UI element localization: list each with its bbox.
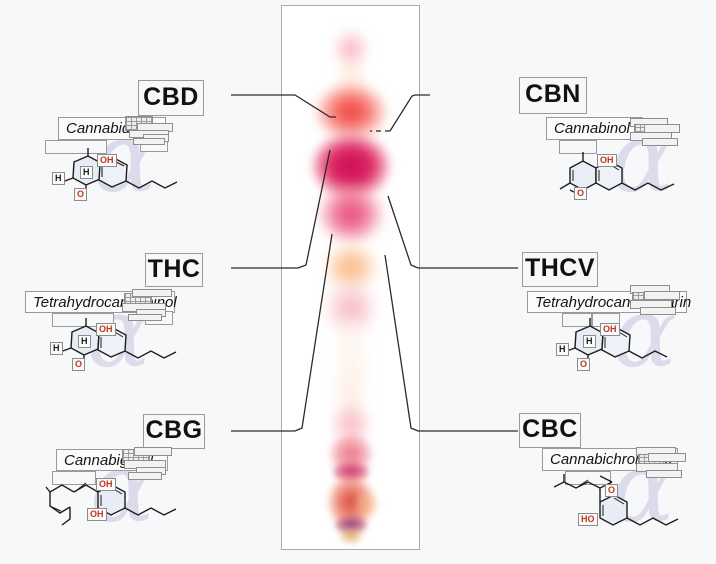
atom-label-cbg-oh2: OH bbox=[87, 508, 107, 521]
atom-label-cbd-h1: H bbox=[52, 172, 65, 185]
structure-cbg: OH OH bbox=[40, 475, 185, 537]
connector-cbc bbox=[385, 255, 518, 431]
atom-label-cbc-o: O bbox=[605, 484, 618, 497]
atom-label-thc-h1: H bbox=[50, 342, 63, 355]
atom-label-thcv-oh: OH bbox=[600, 323, 620, 336]
atom-label-thcv-o: O bbox=[577, 358, 590, 371]
label-cbg-code: CBG bbox=[143, 414, 205, 449]
structure-thc: H H OH O bbox=[44, 318, 184, 380]
label-thcv-name: Tetrahydrocannabivarin bbox=[527, 291, 687, 313]
atom-label-cbn-oh: OH bbox=[597, 154, 617, 167]
connector-thcv bbox=[388, 196, 518, 268]
atom-label-cbg-oh1: OH bbox=[96, 478, 116, 491]
label-cbd-code: CBD bbox=[138, 80, 204, 116]
structure-cbd: H H OH O bbox=[44, 148, 184, 212]
label-thc-name: Tetrahydrocannabinol bbox=[25, 291, 175, 313]
atom-label-cbd-oh: OH bbox=[97, 154, 117, 167]
label-cbn-code: CBN bbox=[519, 77, 587, 114]
atom-label-cbc-ho: HO bbox=[578, 513, 598, 526]
label-cbc-code: CBC bbox=[519, 413, 581, 448]
label-thcv-code: THCV bbox=[522, 252, 598, 287]
connector-cbd bbox=[231, 95, 336, 117]
connector-cbn bbox=[390, 95, 430, 131]
atom-label-thcv-h1: H bbox=[556, 343, 569, 356]
connector-cbg bbox=[231, 234, 332, 431]
atom-label-thc-oh: OH bbox=[96, 323, 116, 336]
label-cbc-name: Cannabichromene bbox=[542, 448, 678, 471]
label-cbg-name: Cannabigerol bbox=[56, 449, 168, 471]
atom-label-thcv-h2: H bbox=[583, 335, 596, 348]
structure-cbn: OH O bbox=[548, 150, 688, 212]
label-cbn-name: Cannabinol bbox=[546, 117, 643, 140]
atom-label-cbd-o: O bbox=[74, 188, 87, 201]
atom-label-thc-o: O bbox=[72, 358, 85, 371]
atom-label-cbd-h2: H bbox=[80, 166, 93, 179]
structure-thcv: H H OH O bbox=[556, 317, 686, 379]
figure-canvas: α CBD Cannabidiol H H bbox=[0, 0, 716, 564]
structure-cbc: O HO bbox=[548, 474, 693, 542]
atom-label-cbn-o: O bbox=[574, 187, 587, 200]
atom-label-thc-h2: H bbox=[78, 335, 91, 348]
label-thc-code: THC bbox=[145, 253, 203, 287]
connector-thc bbox=[231, 150, 330, 268]
